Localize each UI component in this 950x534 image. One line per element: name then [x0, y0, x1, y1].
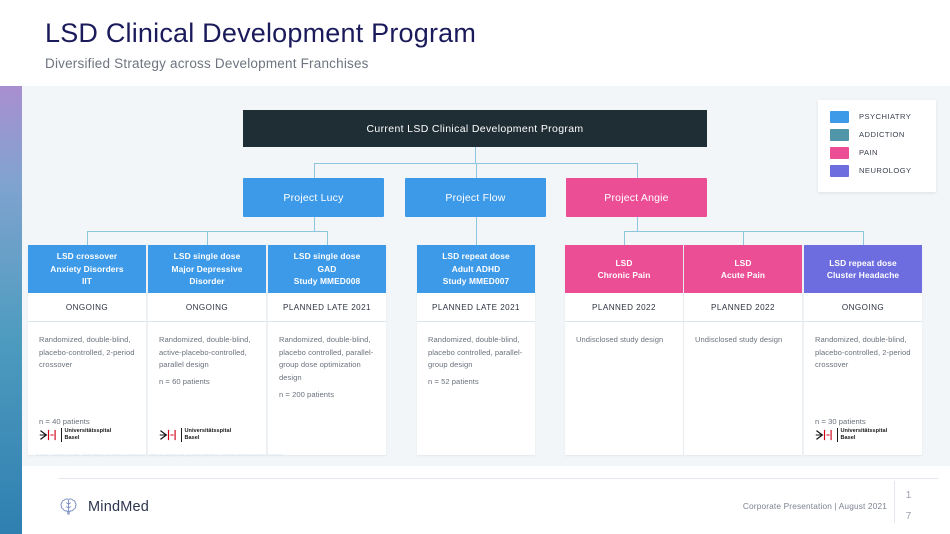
- brand-name: MindMed: [88, 499, 149, 515]
- study-design-text: Undisclosed study design: [576, 334, 672, 347]
- status-badge: PLANNED LATE 2021: [268, 293, 386, 322]
- left-accent-bar: [0, 86, 22, 534]
- connector-flow-stem: [476, 217, 477, 245]
- usb-logo-line1: Universitätsspital: [841, 428, 888, 435]
- patient-count: n = 52 patients: [428, 377, 479, 386]
- study-card[interactable]: LSD repeat doseAdult ADHDStudy MMED007PL…: [417, 245, 535, 455]
- usb-logo-mark: [39, 428, 58, 442]
- connector-root-stem: [475, 147, 476, 163]
- study-design-text: Randomized, double-blind, placebo contro…: [279, 334, 375, 384]
- connector-drop-lucy: [314, 163, 315, 178]
- study-card-title: LSDChronic Pain: [565, 245, 683, 293]
- usb-logo-line1: Universitätsspital: [185, 428, 232, 435]
- slide-footer: MindMed Corporate Presentation | August …: [22, 478, 950, 534]
- page-subtitle: Diversified Strategy across Development …: [45, 56, 745, 71]
- study-card-title-line: LSD single dose: [294, 250, 361, 262]
- legend: PSYCHIATRY ADDICTION PAIN NEUROLOGY: [818, 100, 936, 192]
- study-card-title-line: Cluster Headache: [827, 269, 899, 281]
- status-badge: ONGOING: [148, 293, 266, 322]
- project-box-angie[interactable]: Project Angie: [566, 178, 707, 217]
- page-title: LSD Clinical Development Program: [45, 18, 745, 49]
- legend-swatch-neurology: [830, 165, 849, 177]
- universitaetsspital-basel-logo: UniversitätsspitalBasel: [39, 428, 111, 442]
- study-card-title-line: Chronic Pain: [598, 269, 651, 281]
- connector-lucy-drop: [87, 231, 88, 245]
- patient-count: n = 30 patients: [815, 417, 866, 426]
- root-program-box: Current LSD Clinical Development Program: [243, 110, 707, 147]
- study-card[interactable]: LSD repeat doseCluster HeadacheONGOINGRa…: [804, 245, 922, 455]
- footnote: Source: Company reports. Study design an…: [36, 452, 326, 458]
- study-card-title-line: LSD crossover: [57, 250, 117, 262]
- legend-item: ADDICTION: [830, 126, 936, 143]
- legend-swatch-psychiatry: [830, 111, 849, 123]
- usb-logo-line1: Universitätsspital: [65, 428, 112, 435]
- study-design-text: Randomized, double-blind, placebo contro…: [428, 334, 524, 372]
- study-design-text: Randomized, double-blind, placebo-contro…: [39, 334, 135, 372]
- connector-angie-drop: [624, 231, 625, 245]
- study-design-text: Randomized, double-blind, active-placebo…: [159, 334, 255, 372]
- project-box-flow[interactable]: Project Flow: [405, 178, 546, 217]
- study-card-body: Undisclosed study design: [565, 322, 683, 455]
- page-number: 1 7: [894, 481, 922, 523]
- study-card-title-line: Adult ADHD: [452, 263, 501, 275]
- study-card-body: Randomized, double-blind, placebo-contro…: [804, 322, 922, 455]
- brand: MindMed: [58, 496, 149, 517]
- connector-angie-stem: [637, 217, 638, 231]
- connector-lucy-drop: [327, 231, 328, 245]
- study-card-body: Randomized, double-blind, placebo contro…: [417, 322, 535, 455]
- usb-logo-line2: Basel: [841, 435, 888, 442]
- connector-angie-drop: [863, 231, 864, 245]
- usb-logo-mark: [815, 428, 834, 442]
- usb-logo-text: UniversitätsspitalBasel: [61, 428, 111, 441]
- status-badge: PLANNED 2022: [565, 293, 683, 322]
- study-card-body: Randomized, double-blind, active-placebo…: [148, 322, 266, 455]
- study-card-title-line: Study MMED008: [294, 275, 360, 287]
- universitaetsspital-basel-logo: UniversitätsspitalBasel: [159, 428, 231, 442]
- study-card-title-line: Major Depressive: [172, 263, 243, 275]
- connector-drop-angie: [637, 163, 638, 178]
- study-card[interactable]: LSDChronic PainPLANNED 2022Undisclosed s…: [565, 245, 683, 455]
- study-card-title-line: IIT: [82, 275, 92, 287]
- study-card-title-line: LSD single dose: [174, 250, 241, 262]
- status-badge: ONGOING: [804, 293, 922, 322]
- study-card-title-line: LSD repeat dose: [829, 257, 897, 269]
- study-card-title-line: Study MMED007: [443, 275, 509, 287]
- usb-logo-line2: Basel: [65, 435, 112, 442]
- study-card[interactable]: LSD single doseMajor DepressiveDisorderO…: [148, 245, 266, 455]
- legend-label-addiction: ADDICTION: [859, 130, 905, 139]
- patient-count: n = 40 patients: [39, 417, 90, 426]
- usb-logo-text: UniversitätsspitalBasel: [181, 428, 231, 441]
- footer-divider: [58, 478, 938, 479]
- connector-angie-drop: [743, 231, 744, 245]
- study-card-body: Randomized, double-blind, placebo contro…: [268, 322, 386, 455]
- study-card[interactable]: LSD crossoverAnxiety DisordersIITONGOING…: [28, 245, 146, 455]
- connector-lucy-drop: [207, 231, 208, 245]
- study-card-title-line: Acute Pain: [721, 269, 765, 281]
- study-card-title-line: LSD: [615, 257, 632, 269]
- legend-label-psychiatry: PSYCHIATRY: [859, 112, 911, 121]
- study-card-title: LSD single doseGADStudy MMED008: [268, 245, 386, 293]
- project-box-lucy[interactable]: Project Lucy: [243, 178, 384, 217]
- study-card-body: Undisclosed study design: [684, 322, 802, 455]
- study-card-title: LSD repeat doseAdult ADHDStudy MMED007: [417, 245, 535, 293]
- connector-drop-flow: [476, 163, 477, 178]
- usb-logo-mark: [159, 428, 178, 442]
- patient-count: n = 60 patients: [159, 377, 210, 386]
- study-card-body: Randomized, double-blind, placebo-contro…: [28, 322, 146, 455]
- patient-count: n = 200 patients: [279, 390, 334, 399]
- usb-logo-line2: Basel: [185, 435, 232, 442]
- study-design-text: Undisclosed study design: [695, 334, 791, 347]
- study-card[interactable]: LSDAcute PainPLANNED 2022Undisclosed stu…: [684, 245, 802, 455]
- legend-item: PSYCHIATRY: [830, 108, 936, 125]
- legend-swatch-addiction: [830, 129, 849, 141]
- brain-icon: [58, 496, 79, 517]
- status-badge: ONGOING: [28, 293, 146, 322]
- legend-item: PAIN: [830, 144, 936, 161]
- slide: LSD Clinical Development Program Diversi…: [0, 0, 950, 534]
- status-badge: PLANNED 2022: [684, 293, 802, 322]
- slide-header: LSD Clinical Development Program Diversi…: [45, 18, 745, 71]
- study-card-title: LSDAcute Pain: [684, 245, 802, 293]
- page-number-digit-1: 1: [895, 485, 922, 506]
- study-card-title-line: LSD repeat dose: [442, 250, 510, 262]
- study-card-title: LSD crossoverAnxiety DisordersIIT: [28, 245, 146, 293]
- legend-label-neurology: NEUROLOGY: [859, 166, 912, 175]
- universitaetsspital-basel-logo: UniversitätsspitalBasel: [815, 428, 887, 442]
- study-card-title-line: GAD: [318, 263, 337, 275]
- footer-meta: Corporate Presentation | August 2021: [743, 501, 887, 511]
- study-card-title-line: LSD: [734, 257, 751, 269]
- study-design-text: Randomized, double-blind, placebo-contro…: [815, 334, 911, 372]
- study-card-title: LSD repeat doseCluster Headache: [804, 245, 922, 293]
- study-card-title-line: Anxiety Disorders: [50, 263, 123, 275]
- legend-label-pain: PAIN: [859, 148, 878, 157]
- page-number-digit-2: 7: [895, 506, 922, 527]
- legend-swatch-pain: [830, 147, 849, 159]
- connector-lucy-stem: [314, 217, 315, 231]
- study-card-title: LSD single doseMajor DepressiveDisorder: [148, 245, 266, 293]
- legend-item: NEUROLOGY: [830, 162, 936, 179]
- status-badge: PLANNED LATE 2021: [417, 293, 535, 322]
- study-card[interactable]: LSD single doseGADStudy MMED008PLANNED L…: [268, 245, 386, 455]
- study-card-title-line: Disorder: [189, 275, 224, 287]
- usb-logo-text: UniversitätsspitalBasel: [837, 428, 887, 441]
